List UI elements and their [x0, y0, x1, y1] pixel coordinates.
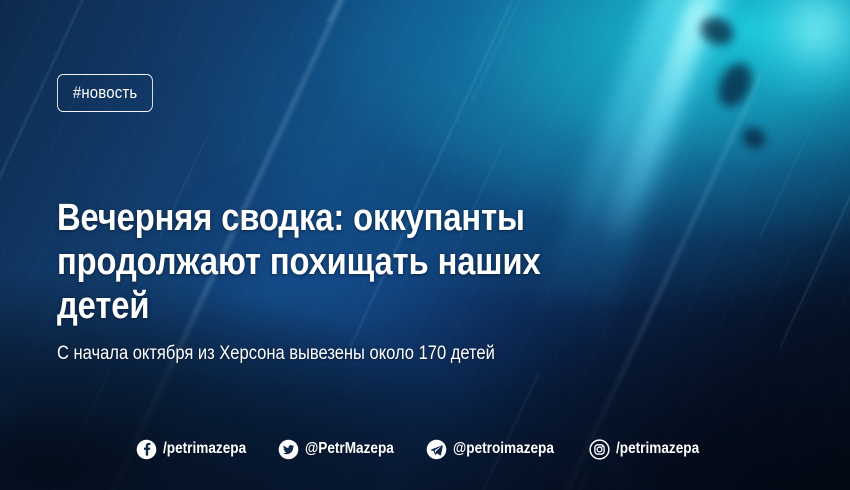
subtitle: С начала октября из Херсона вывезены око… [57, 342, 649, 366]
news-card: #новость Вечерняя сводка: оккупанты прод… [0, 0, 850, 490]
social-handle: /petrimazepa [163, 441, 246, 457]
twitter-icon [278, 439, 299, 460]
facebook-icon [136, 439, 157, 460]
social-link-facebook[interactable]: /petrimazepa [136, 439, 261, 460]
instagram-icon [589, 439, 610, 460]
card-content: #новость Вечерняя сводка: оккупанты прод… [0, 0, 850, 490]
social-handle: @petroimazepa [453, 441, 554, 457]
social-link-telegram[interactable]: @petroimazepa [426, 439, 572, 460]
social-handle: @PetrMazepa [305, 441, 394, 457]
social-link-twitter[interactable]: @PetrMazepa [278, 439, 410, 460]
telegram-icon [426, 439, 447, 460]
social-bar: /petrimazepa @PetrMazepa @petroimazepa [0, 434, 850, 464]
hashtag-badge[interactable]: #новость [57, 74, 153, 112]
social-link-instagram[interactable]: /petrimazepa [589, 439, 714, 460]
social-handle: /petrimazepa [616, 441, 699, 457]
headline: Вечерняя сводка: оккупанты продолжают по… [57, 196, 642, 328]
